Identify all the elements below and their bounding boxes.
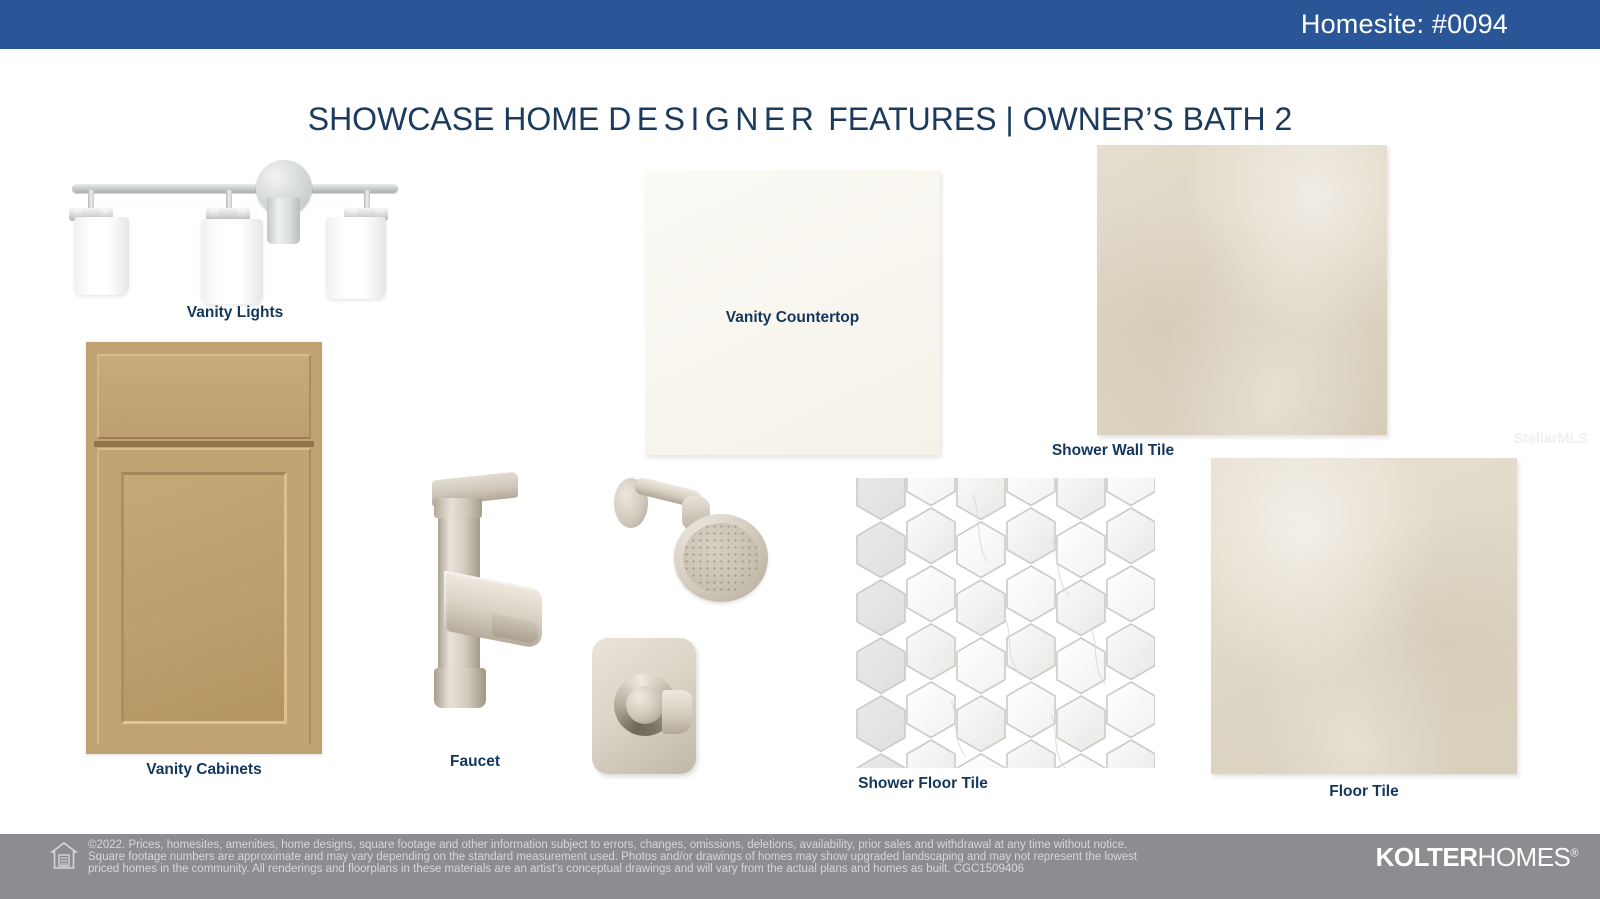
footer-fineprint: ©2022. Prices, homesites, amenities, hom…	[88, 840, 1338, 875]
faucet-base	[434, 668, 486, 708]
valve-handle-lever	[662, 690, 692, 734]
label-vanity-lights: Vanity Lights	[60, 304, 410, 322]
label-faucet: Faucet	[390, 753, 560, 771]
page-title-designer: DESIGNER	[608, 101, 819, 137]
label-vanity-cabinets: Vanity Cabinets	[86, 761, 322, 779]
cabinet-door-front	[97, 448, 311, 744]
light-bar	[72, 184, 398, 193]
hexagon-mosaic-graphic	[855, 478, 1155, 768]
homesite-label: Homesite: #0094	[1301, 9, 1508, 40]
cabinet-reveal-gap	[94, 441, 314, 447]
floor-tile-swatch	[1211, 458, 1517, 774]
header-bar: Homesite: #0094	[0, 0, 1600, 49]
shower-floor-tile-swatch	[855, 478, 1155, 768]
light-shade-2	[201, 219, 263, 304]
logo-homes: HOMES	[1478, 842, 1571, 872]
label-vanity-countertop: Vanity Countertop	[645, 309, 940, 327]
light-shade-1	[74, 217, 129, 295]
page-title-part3: FEATURES | OWNER’S BATH 2	[819, 101, 1292, 137]
page-title: SHOWCASE HOME DESIGNER FEATURES | OWNER’…	[0, 101, 1600, 138]
logo-kolter: KOLTER	[1376, 842, 1478, 872]
fineprint-line-2: Square footage numbers are approximate a…	[88, 852, 1338, 864]
kolter-homes-logo: KOLTERHOMES®	[1376, 842, 1578, 873]
logo-registered-mark: ®	[1570, 847, 1578, 859]
light-shade-3	[326, 217, 386, 299]
light-backplate-stem	[267, 198, 300, 244]
stellar-mls-watermark: StellarMLS	[1513, 430, 1588, 447]
faucet-image	[418, 468, 548, 708]
valve-handle-hub	[626, 686, 664, 724]
showerhead-head	[674, 514, 768, 602]
vanity-cabinets-image	[86, 342, 322, 754]
label-shower-wall-tile: Shower Wall Tile	[1000, 442, 1226, 460]
page-title-part1: SHOWCASE HOME	[308, 101, 608, 137]
shower-valve-trim-image	[588, 634, 708, 784]
fineprint-line-3: priced homes in the community. All rende…	[88, 864, 1338, 876]
showerhead-spray-face	[683, 523, 759, 593]
vanity-lights-image	[60, 160, 410, 295]
label-shower-floor-tile: Shower Floor Tile	[790, 775, 1056, 793]
equal-housing-opportunity-icon	[50, 841, 78, 871]
label-floor-tile: Floor Tile	[1253, 783, 1475, 801]
faucet-handle-neck	[434, 498, 482, 518]
cabinet-raised-panel	[121, 472, 287, 724]
designer-features-board: Homesite: #0094 SHOWCASE HOME DESIGNER F…	[0, 0, 1600, 899]
cabinet-drawer-front	[97, 354, 311, 439]
shower-wall-tile-swatch	[1097, 145, 1387, 435]
showerhead-image	[608, 474, 778, 609]
